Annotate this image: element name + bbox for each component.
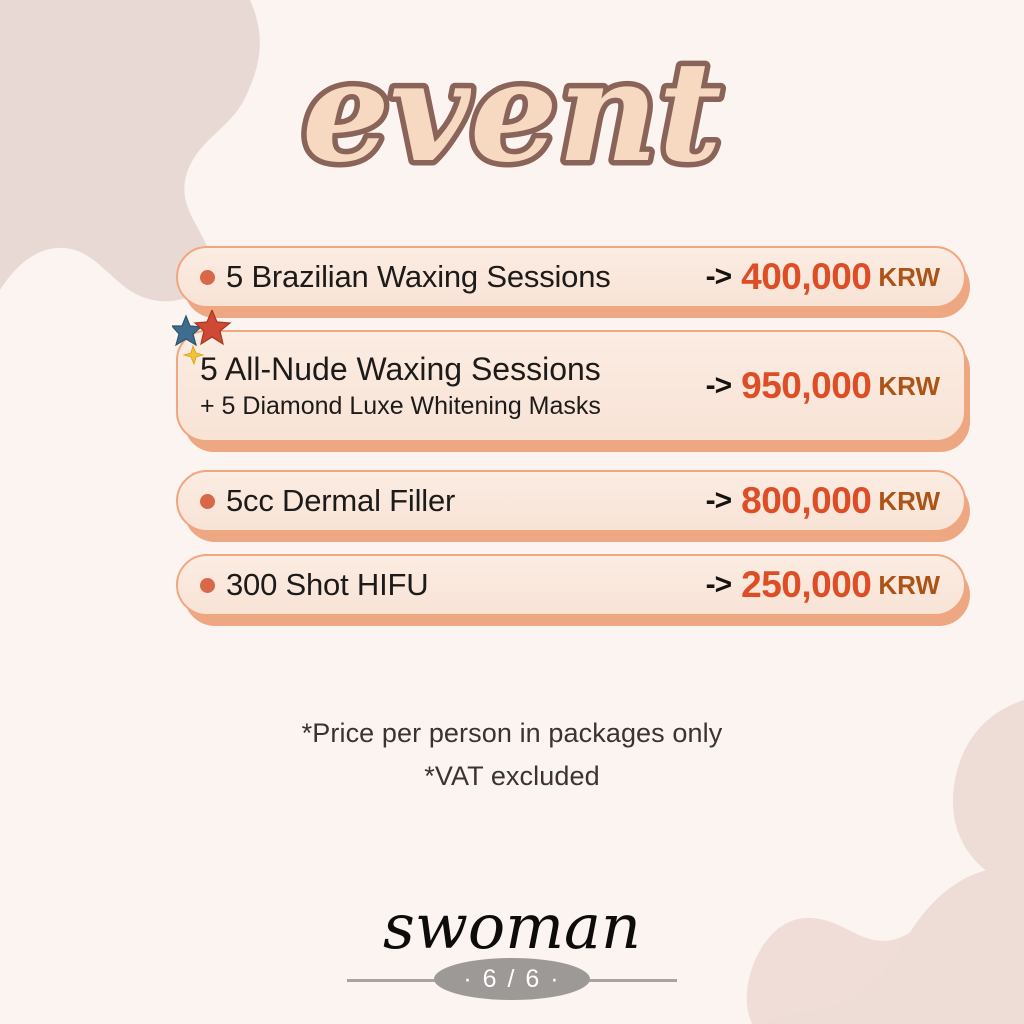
arrow-glyph: -> bbox=[706, 260, 732, 294]
offer-currency: KRW bbox=[878, 371, 940, 402]
offer-label-stack: 5 All-Nude Waxing Sessions + 5 Diamond L… bbox=[200, 353, 601, 419]
offer-label: 300 Shot HIFU bbox=[226, 567, 428, 603]
arrow-glyph: -> bbox=[706, 568, 732, 602]
offer-row[interactable]: 5 All-Nude Waxing Sessions + 5 Diamond L… bbox=[176, 330, 966, 442]
footnote-line: *VAT excluded bbox=[0, 761, 1024, 792]
offer-price: 800,000 bbox=[741, 480, 871, 522]
offer-list: 5 Brazilian Waxing Sessions -> 400,000 K… bbox=[176, 246, 966, 638]
offer-row[interactable]: 300 Shot HIFU -> 250,000 KRW bbox=[176, 554, 966, 616]
offer-pill[interactable]: 300 Shot HIFU -> 250,000 KRW bbox=[176, 554, 966, 616]
brand-footer: swoman · 6 / 6 · bbox=[0, 890, 1024, 1002]
bullet-dot-icon bbox=[200, 578, 215, 593]
poster-canvas: event 5 Brazilian Waxing Sessions -> 400… bbox=[0, 0, 1024, 1024]
offer-price: 400,000 bbox=[741, 256, 871, 298]
offer-currency: KRW bbox=[878, 570, 940, 601]
offer-price: 250,000 bbox=[741, 564, 871, 606]
offer-label-line2: + 5 Diamond Luxe Whitening Masks bbox=[200, 393, 601, 420]
offer-row[interactable]: 5cc Dermal Filler -> 800,000 KRW bbox=[176, 470, 966, 532]
offer-label: 5cc Dermal Filler bbox=[226, 483, 455, 519]
footnote-line: *Price per person in packages only bbox=[0, 718, 1024, 749]
bullet-dot-icon bbox=[200, 270, 215, 285]
page-indicator-badge: · 6 / 6 · bbox=[434, 958, 590, 1000]
offer-label-line1: 5 All-Nude Waxing Sessions bbox=[200, 353, 601, 387]
offer-currency: KRW bbox=[878, 262, 940, 293]
star-blue-icon bbox=[172, 316, 201, 345]
offer-label: 5 Brazilian Waxing Sessions bbox=[226, 259, 611, 295]
offer-pill[interactable]: 5 Brazilian Waxing Sessions -> 400,000 K… bbox=[176, 246, 966, 308]
offer-price: 950,000 bbox=[741, 365, 871, 407]
arrow-glyph: -> bbox=[706, 484, 732, 518]
footnotes: *Price per person in packages only *VAT … bbox=[0, 718, 1024, 804]
bullet-dot-icon bbox=[200, 494, 215, 509]
title-block: event bbox=[0, 28, 1024, 208]
event-title-text: event bbox=[302, 38, 722, 193]
offer-pill[interactable]: 5 All-Nude Waxing Sessions + 5 Diamond L… bbox=[176, 330, 966, 442]
arrow-glyph: -> bbox=[706, 369, 732, 403]
event-title-art: event bbox=[252, 38, 772, 198]
offer-currency: KRW bbox=[878, 486, 940, 517]
offer-row[interactable]: 5 Brazilian Waxing Sessions -> 400,000 K… bbox=[176, 246, 966, 308]
page-indicator: · 6 / 6 · bbox=[347, 956, 677, 1002]
swoman-wordmark-text: swoman bbox=[383, 890, 641, 963]
offer-pill[interactable]: 5cc Dermal Filler -> 800,000 KRW bbox=[176, 470, 966, 532]
